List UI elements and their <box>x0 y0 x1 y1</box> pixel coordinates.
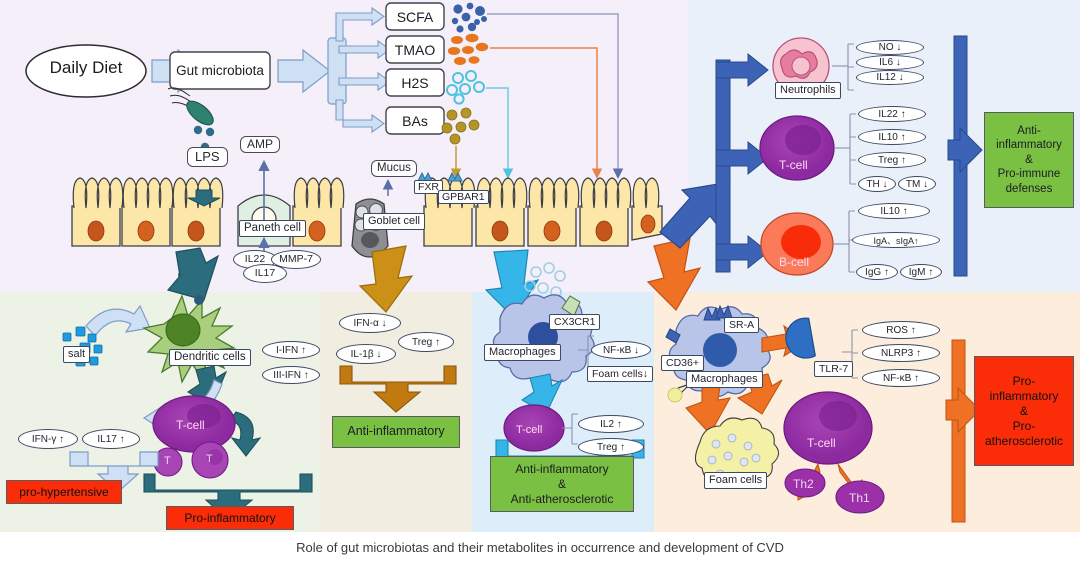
neutrophils-label: Neutrophils <box>775 82 841 99</box>
pro-athero-line-4: Pro- <box>1013 419 1036 434</box>
figure-caption: Role of gut microbiotas and their metabo… <box>0 540 1080 555</box>
tcell-label-immune: T-cell <box>779 158 808 172</box>
goblet-cell-label: Goblet cell <box>363 213 425 230</box>
anti-athero-line-3: Anti-atherosclerotic <box>511 492 614 507</box>
salt-label: salt <box>63 346 90 363</box>
anti-marker-treg: Treg ↑ <box>398 332 454 352</box>
pro-hypertensive-box: pro-hypertensive <box>6 480 122 504</box>
immune-outcome-line-4: Pro-immune <box>998 167 1061 181</box>
paneth-cell-label: Paneth cell <box>239 220 306 237</box>
pro-athero-line-3: & <box>1020 404 1028 419</box>
diagram-canvas: Daily Diet Gut microbiota SCFA TMAO H2S … <box>0 0 1080 568</box>
gut-microbiota-label: Gut microbiota <box>170 63 270 78</box>
tcell-marker-il10: IL10 ↑ <box>858 129 926 145</box>
macrophage-marker-nfkb: NF-κB ↓ <box>591 341 651 359</box>
immune-outcome-line-2: inflammatory <box>996 138 1062 152</box>
immune-outcome-line-5: defenses <box>1006 182 1053 196</box>
th2-label: Th2 <box>793 477 814 491</box>
bcell-marker-igm: IgM ↑ <box>900 264 942 280</box>
lps-label: LPS <box>187 147 228 167</box>
pro-athero-box: Pro- inflammatory & Pro- atherosclerotic <box>974 356 1074 466</box>
th1-label: Th1 <box>849 491 870 505</box>
tcell-marker-tm: TM ↓ <box>898 176 936 192</box>
macrophages-label-panel4: Macrophages <box>686 371 763 388</box>
anti-athero-line-1: Anti-inflammatory <box>515 462 608 477</box>
dendritic-cells-label: Dendritic cells <box>169 349 251 366</box>
macrophages-label-panel3: Macrophages <box>484 344 561 361</box>
amp-label: AMP <box>240 136 280 153</box>
pro-athero-line-2: inflammatory <box>990 389 1059 404</box>
cd36-label: CD36+ <box>661 355 704 371</box>
immune-outcome-line-3: & <box>1025 153 1033 167</box>
bcell-marker-igg: IgG ↑ <box>856 264 898 280</box>
cx3cr1-label: CX3CR1 <box>549 314 600 330</box>
metabolite-h2s-label: H2S <box>386 75 444 91</box>
anti-athero-line-2: & <box>558 477 566 492</box>
athero-marker-nlrp3: NLRP3 ↑ <box>862 344 940 362</box>
neutrophil-marker-no: NO ↓ <box>856 40 924 55</box>
dendritic-marker-i-ifn: I-IFN ↑ <box>262 341 320 359</box>
anti-marker-ifn-alpha: IFN-α ↓ <box>339 313 401 333</box>
immune-outcome-line-1: Anti- <box>1017 124 1041 138</box>
cytokine-ifn-gamma: IFN-γ ↑ <box>18 429 78 449</box>
immune-outcome-box: Anti- inflammatory & Pro-immune defenses <box>984 112 1074 208</box>
bcell-marker-il10: IL10 ↑ <box>858 203 930 219</box>
metabolite-bas-label: BAs <box>386 113 444 129</box>
cytokine-il17: IL17 ↑ <box>82 429 140 449</box>
anti-athero-box: Anti-inflammatory & Anti-atherosclerotic <box>490 456 634 512</box>
tcell-label-dendritic: T-cell <box>176 418 205 432</box>
tcell-small-1-label: T <box>164 455 171 467</box>
foam-cells-label: Foam cells <box>704 472 767 489</box>
metabolite-scfa-label: SCFA <box>386 9 444 25</box>
tcell-marker-il2-panel3: IL2 ↑ <box>578 415 644 433</box>
pro-inflammatory-box: Pro-inflammatory <box>166 506 294 530</box>
anti-inflammatory-box: Anti-inflammatory <box>332 416 460 448</box>
paneth-mediator-mmp7: MMP-7 <box>271 250 321 269</box>
pro-athero-line-5: atherosclerotic <box>985 434 1063 449</box>
macrophage-marker-foam-cells: Foam cells↓ <box>587 366 653 382</box>
bcell-label-immune: B-cell <box>779 255 809 269</box>
mucus-label: Mucus <box>371 160 417 177</box>
dendritic-marker-iii-ifn: III-IFN ↑ <box>262 366 320 384</box>
anti-marker-il1b: IL-1β ↓ <box>336 344 396 364</box>
tcell-marker-treg: Treg ↑ <box>858 152 926 168</box>
gpbar1-label: GPBAR1 <box>438 190 489 204</box>
tcell-label-panel3: T-cell <box>516 424 542 436</box>
pro-athero-line-1: Pro- <box>1013 374 1036 389</box>
tcell-marker-treg-panel3: Treg ↑ <box>578 438 644 456</box>
tcell-marker-th: TH ↓ <box>858 176 896 192</box>
tlr7-label: TLR-7 <box>814 361 853 377</box>
athero-marker-ros: ROS ↑ <box>862 321 940 339</box>
metabolite-tmao-label: TMAO <box>386 42 444 58</box>
tcell-label-panel4: T-cell <box>807 436 836 450</box>
daily-diet-label: Daily Diet <box>26 58 146 78</box>
tcell-marker-il22: IL22 ↑ <box>858 106 926 122</box>
athero-marker-nfkb: NF-κB ↑ <box>862 369 940 387</box>
neutrophil-marker-il12: IL12 ↓ <box>856 70 924 85</box>
bcell-marker-iga: IgA、sIgA↑ <box>852 232 940 248</box>
neutrophil-marker-il6: IL6 ↓ <box>856 55 924 70</box>
tcell-small-2-label: T <box>206 453 213 465</box>
sr-a-label: SR-A <box>724 317 759 333</box>
